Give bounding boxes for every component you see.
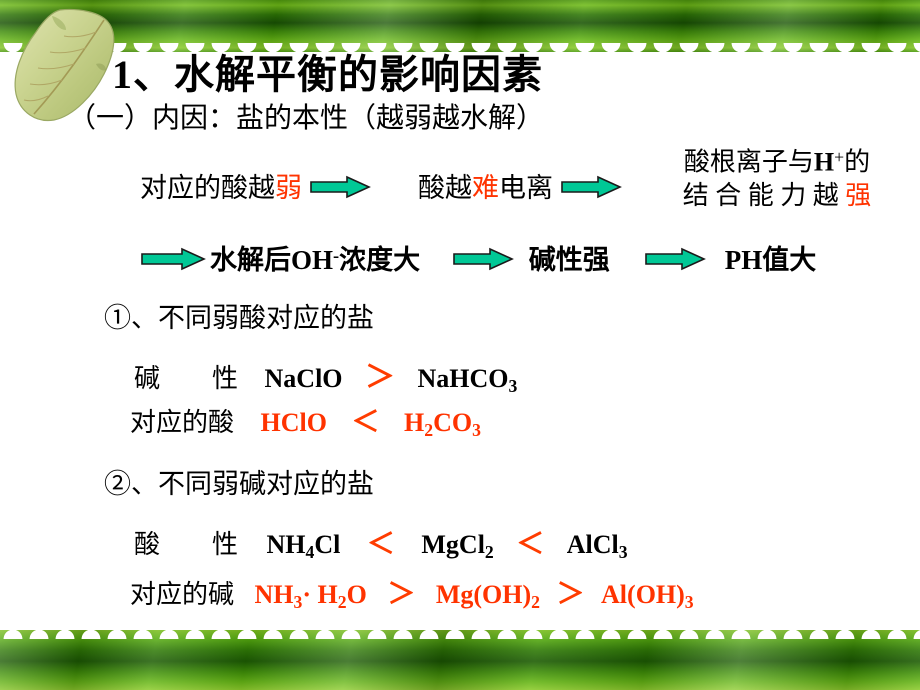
- chain-row1-item3-line2: 结 合 能 力 越 强: [652, 179, 902, 213]
- operator-less-1: ＜: [351, 407, 379, 438]
- section-1-row-acid: 对应的酸 HClO ＜ H2CO3: [130, 400, 481, 441]
- term-nh4cl-a: NH: [267, 530, 306, 559]
- chain-row1-item3-line1-b: 的: [844, 147, 870, 176]
- term-aloh3-a: Al(OH): [601, 580, 685, 609]
- arrow-right-icon-2: [560, 175, 622, 206]
- term-aloh3-s: 3: [685, 592, 694, 612]
- chain-row1-item2-highlight: 难: [472, 173, 499, 203]
- operator-greater-3: ＞: [557, 579, 585, 610]
- term-nh4cl-b: Cl: [314, 530, 340, 559]
- arrow-right-icon-1: [309, 175, 371, 206]
- chain-row2-item3-b: 值大: [762, 245, 816, 275]
- chain-row1-item3-line2-a: 结 合 能 力 越: [683, 181, 846, 210]
- term-aloh3: Al(OH)3: [601, 580, 694, 609]
- term-h2co3: H2CO3: [404, 408, 481, 437]
- row-label-corresponding-acid-1: 对应的酸: [130, 407, 234, 437]
- term-nh3h2o: NH3· H2O: [255, 580, 367, 609]
- chain-row2-item1-formula: OH: [291, 245, 333, 275]
- term-nh3h2o-c: O: [347, 580, 367, 609]
- chain-row1-item3-line1-a: 酸根离子与: [684, 147, 814, 176]
- chain-row1-item1-text: 对应的酸越: [140, 173, 275, 203]
- arrow-right-icon-3: [140, 247, 206, 278]
- row-label-corresponding-base: 对应的碱: [130, 579, 234, 609]
- term-alcl3-a: AlCl: [567, 530, 619, 559]
- term-nh4cl: NH4Cl: [267, 530, 341, 559]
- term-nahco3-base: NaHCO: [418, 364, 509, 393]
- chain-row2-item3-formula: PH: [725, 245, 763, 275]
- chain-row2-item1: 水解后OH-浓度大: [140, 238, 420, 278]
- row-label-acidity: 酸 性: [134, 529, 238, 559]
- term-nh3h2o-a: NH: [255, 580, 294, 609]
- term-nh3h2o-b: · H: [302, 580, 337, 609]
- operator-greater-1: ＞: [365, 361, 395, 394]
- term-nahco3-sub: 3: [509, 376, 518, 396]
- operator-greater-2: ＞: [387, 579, 415, 610]
- chain-row1-item3-highlight: 强: [845, 181, 871, 210]
- arrow-right-icon-5: [644, 247, 706, 278]
- term-h2co3-a: H: [404, 408, 424, 437]
- chain-row1-item2-text-a: 酸越: [418, 173, 472, 203]
- chain-row1-item3-formula: H: [814, 147, 834, 176]
- term-hclo: HClO: [261, 408, 327, 437]
- chain-row1-item2: 酸越难电离: [418, 166, 622, 206]
- section-1-row-basicity: 碱 性 NaClO ＞ NaHCO3: [134, 352, 517, 397]
- chain-row2-item2: 碱性强: [529, 245, 610, 275]
- section-2-row-base: 对应的碱 NH3· H2O ＞ Mg(OH)2 ＞ Al(OH)3: [130, 572, 694, 613]
- term-mgcl2: MgCl2: [421, 530, 493, 559]
- term-naclo: NaClO: [265, 364, 343, 393]
- bottom-band-scallop-edge: [0, 630, 920, 645]
- chain-row2-item3-wrap: PH值大: [644, 238, 816, 278]
- operator-less-3: ＜: [516, 529, 544, 560]
- term-nh3h2o-s2: 2: [338, 592, 347, 612]
- row-label-basicity: 碱 性: [134, 363, 238, 393]
- term-nahco3: NaHCO3: [418, 364, 518, 393]
- arrow-right-icon-4: [452, 247, 514, 278]
- chain-row2-arrow-wrap: 碱性强: [452, 238, 610, 278]
- chain-row2-item1-a: 水解后: [210, 245, 291, 275]
- term-alcl3-s: 3: [619, 542, 628, 562]
- section-1-heading: ①、不同弱酸对应的盐: [104, 296, 374, 335]
- slide-title: 1、水解平衡的影响因素: [112, 42, 543, 100]
- term-mgoh2-s: 2: [531, 592, 540, 612]
- slide-subtitle: （一）内因：盐的本性（越弱越水解）: [68, 96, 544, 136]
- term-h2co3-s2: 3: [472, 420, 481, 440]
- chain-row1-item3-line1: 酸根离子与H+的: [652, 140, 902, 179]
- operator-less-2: ＜: [367, 529, 395, 560]
- term-mgcl2-a: MgCl: [421, 530, 485, 559]
- term-h2co3-s1: 2: [424, 420, 433, 440]
- chain-row1-item1: 对应的酸越弱: [140, 166, 371, 206]
- chain-row1-item3-superscript: +: [834, 147, 844, 167]
- term-mgoh2: Mg(OH)2: [436, 580, 540, 609]
- term-mgoh2-a: Mg(OH): [436, 580, 531, 609]
- chain-row2-item1-b: 浓度大: [339, 245, 420, 275]
- chain-row1-item1-highlight: 弱: [275, 173, 302, 203]
- chain-row1-item3: 酸根离子与H+的 结 合 能 力 越 强: [652, 140, 902, 213]
- term-h2co3-b: CO: [433, 408, 472, 437]
- section-2-row-acidity: 酸 性 NH4Cl ＜ MgCl2 ＜ AlCl3: [134, 522, 628, 563]
- term-alcl3: AlCl3: [567, 530, 628, 559]
- bottom-decoration-band: [0, 630, 920, 690]
- section-2-heading: ②、不同弱碱对应的盐: [104, 462, 374, 501]
- term-mgcl2-s: 2: [485, 542, 494, 562]
- chain-row1-item2-text-b: 电离: [499, 173, 553, 203]
